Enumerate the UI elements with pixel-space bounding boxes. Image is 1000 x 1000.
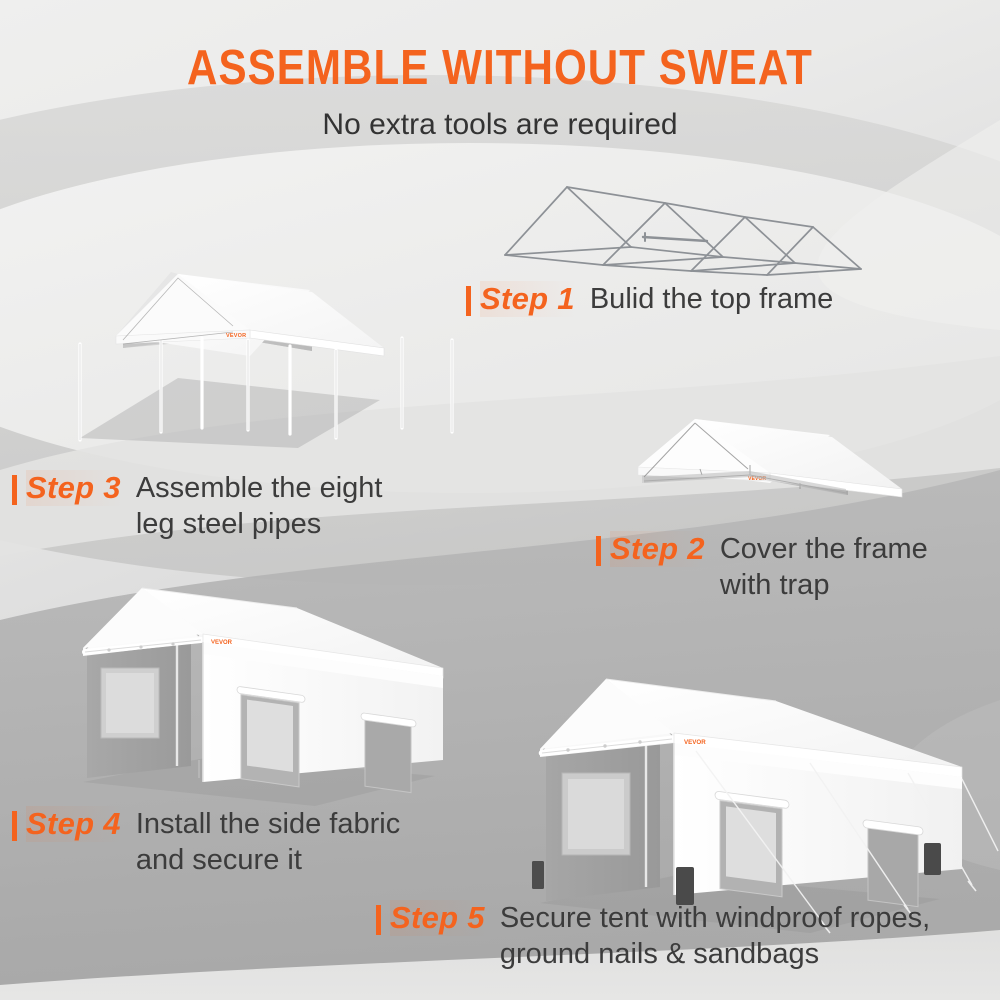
step-5-text: Secure tent with windproof ropes,ground …	[500, 900, 930, 972]
page-title: ASSEMBLE WITHOUT SWEAT	[70, 40, 930, 96]
step-accent-bar	[376, 905, 381, 935]
side-window-1	[237, 686, 305, 787]
step-accent-bar	[596, 536, 601, 566]
vevor-logo: VEVOR	[226, 333, 246, 339]
step-2-label: Step 2	[610, 531, 707, 567]
illustration-covered-canopy-roof: VEVOR	[600, 405, 950, 515]
step-3-label: Step 3	[26, 470, 123, 506]
step-1-text: Bulid the top frame	[590, 281, 833, 317]
illustration-stage: VEVOR	[0, 0, 1000, 1000]
step-2-text: Cover the framewith trap	[720, 531, 928, 603]
step-4-label: Step 4	[26, 806, 123, 842]
illustration-carport-with-legs: VEVOR	[50, 252, 470, 452]
side-window-1	[715, 791, 789, 897]
step-5-caption: Step 5 Secure tent with windproof ropes,…	[376, 900, 930, 972]
step-accent-bar	[466, 286, 471, 316]
step-2-line-1: Cover the frame	[720, 533, 928, 565]
step-4-caption: Step 4 Install the side fabricand secure…	[12, 806, 400, 878]
page-subtitle: No extra tools are required	[0, 108, 1000, 142]
step-1-label: Step 1	[480, 281, 577, 317]
step-5-label: Step 5	[390, 900, 487, 936]
step-3-text: Assemble the eightleg steel pipes	[136, 470, 383, 542]
step-4-line-1: Install the side fabric	[136, 808, 400, 840]
illustration-roof-frame-wireframe	[495, 165, 895, 280]
step-2-line-2: with trap	[720, 567, 928, 603]
step-3-caption: Step 3 Assemble the eightleg steel pipes	[12, 470, 383, 542]
step-4-line-2: and secure it	[136, 842, 400, 878]
side-window-2	[361, 713, 416, 793]
step-accent-bar	[12, 811, 17, 841]
step-1-caption: Step 1 Bulid the top frame	[466, 281, 833, 317]
step-2-caption: Step 2 Cover the framewith trap	[596, 531, 928, 603]
step-3-line-1: Assemble the eight	[136, 472, 383, 504]
step-1-line-1: Bulid the top frame	[590, 283, 833, 315]
step-5-line-2: ground nails & sandbags	[500, 936, 930, 972]
step-4-text: Install the side fabricand secure it	[136, 806, 400, 878]
step-3-line-2: leg steel pipes	[136, 506, 383, 542]
step-5-line-1: Secure tent with windproof ropes,	[500, 902, 930, 934]
side-window-2	[863, 819, 923, 906]
step-accent-bar	[12, 475, 17, 505]
illustration-carport-with-walls: VEVOR	[65, 570, 465, 815]
